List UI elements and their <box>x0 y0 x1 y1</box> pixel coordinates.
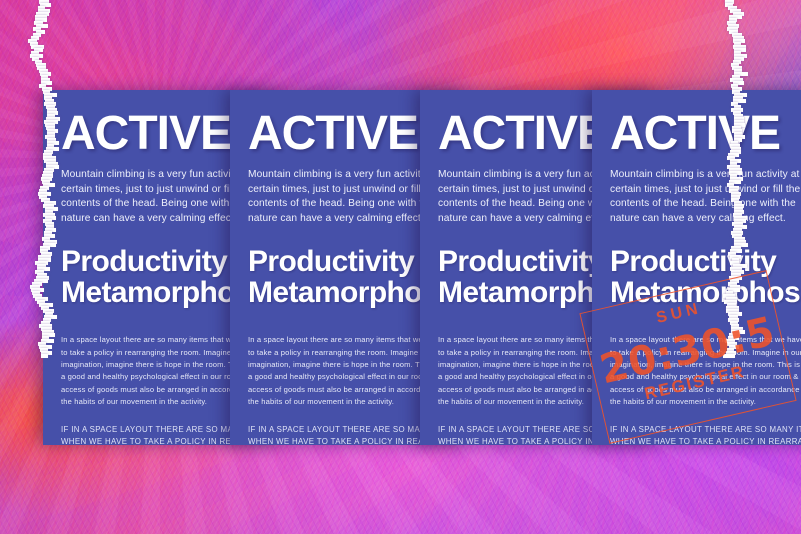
intro-line: Mountain climbing is a very fun activity… <box>610 168 801 182</box>
caps-line: WHEN WE HAVE TO TAKE A POLICY IN REARRAN… <box>610 436 801 445</box>
body-line: the habits of our movement in the activi… <box>610 396 801 408</box>
intro-line: certain times, just to just unwind or fi… <box>610 183 801 197</box>
poster-mockup-canvas: ACTIVE Mountain climbing is a very fun a… <box>0 0 801 534</box>
poster-panel-4[interactable]: ACTIVE Mountain climbing is a very fun a… <box>592 90 801 445</box>
intro-line: contents of the head. Being one with the <box>610 197 801 211</box>
body-line: to take a policy in rearranging the room… <box>610 347 801 359</box>
caps-line: IF IN A SPACE LAYOUT THERE ARE SO MANY I… <box>610 424 801 436</box>
poster-caps-paragraph-4: IF IN A SPACE LAYOUT THERE ARE SO MANY I… <box>610 424 801 445</box>
subhead-line: Productivity <box>610 246 801 277</box>
intro-line: nature can have a very calming effect. <box>610 212 801 226</box>
poster-content-4: ACTIVE Mountain climbing is a very fun a… <box>592 90 801 445</box>
body-line: imagination, imagine there is hope in th… <box>610 359 801 371</box>
subhead-line: Metamorphosis <box>610 277 801 308</box>
poster-intro-4: Mountain climbing is a very fun activity… <box>610 168 801 226</box>
body-line: a good and healthy psychological effect … <box>610 371 801 383</box>
poster-subhead-4: Productivity Metamorphosis <box>610 246 801 308</box>
poster-title-4: ACTIVE <box>610 112 801 156</box>
body-line: In a space layout there are so many item… <box>610 334 801 346</box>
poster-body-paragraph-4: In a space layout there are so many item… <box>610 334 801 408</box>
body-line: access of goods must also be arranged in… <box>610 384 801 396</box>
